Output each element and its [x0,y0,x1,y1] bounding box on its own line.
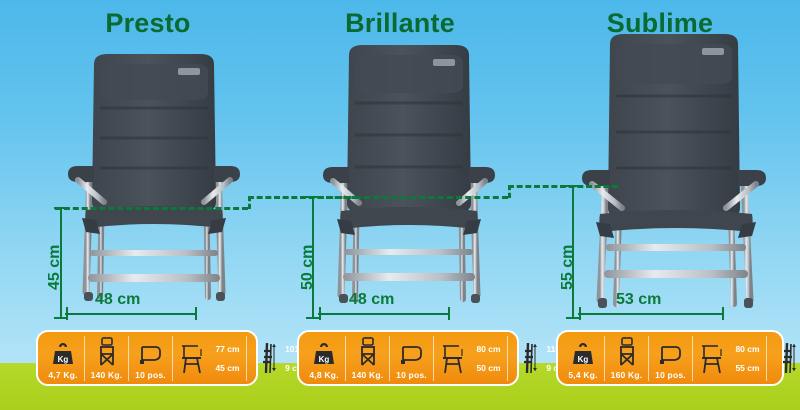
spec-side-dims-sublime: 80 cm 55 cm [692,336,766,381]
spec-max-load-sublime: 160 Kg. [604,336,648,381]
seat-height-connector-brillante-to-sublime [318,196,508,199]
chair-side-view-icon [179,342,213,376]
spec-positions-presto: 10 pos. [128,336,172,381]
chair-side-view-icon [699,342,733,376]
width-dim-cap-right-brillante [448,307,450,320]
spec-panel-brillante: Kg 4,8 Kg. 140 Kg. [297,330,519,386]
side-top-value-brillante: 80 cm [476,344,500,354]
seat-height-connector-step-upper-2 [508,185,618,188]
weight-value-sublime: 5,4 Kg. [568,370,597,380]
width-dim-cap-left-sublime [579,307,581,320]
svg-text:Kg: Kg [58,355,69,364]
recline-angle-icon [399,336,425,367]
side-top-value-sublime: 80 cm [735,344,759,354]
product-comparison-scene: Presto Brillante Sublime [0,0,800,410]
spec-max-load-presto: 140 Kg. [84,336,128,381]
width-dim-cap-right-presto [195,307,197,320]
width-dim-cap-right-sublime [722,307,724,320]
chair-load-icon [94,336,120,367]
width-label-sublime: 53 cm [616,291,661,309]
spec-max-load-brillante: 140 Kg. [345,336,389,381]
spec-weight-presto: Kg 4,7 Kg. [42,336,84,381]
weight-value-presto: 4,7 Kg. [48,370,77,380]
spec-front-dims-sublime: 115 cm 9,5 cm [766,336,800,381]
chair-folded-front-icon [257,341,283,377]
width-dim-line-brillante [318,313,450,315]
side-bottom-value-presto: 45 cm [215,363,239,373]
width-dim-cap-left-presto [66,307,68,320]
height-dim-cap-bottom-sublime [566,317,579,319]
positions-value-sublime: 10 pos. [655,370,686,380]
width-label-brillante: 48 cm [349,291,394,309]
chair-load-icon [355,336,381,367]
seat-height-connector-step-riser-1 [248,196,251,209]
positions-value-brillante: 10 pos. [396,370,427,380]
height-dim-cap-top-presto [54,207,67,209]
width-label-presto: 48 cm [95,291,140,309]
spec-weight-sublime: Kg 5,4 Kg. [562,336,604,381]
seat-height-label-presto: 45 cm [46,245,64,290]
svg-text:Kg: Kg [319,355,330,364]
recline-angle-icon [138,336,164,367]
chair-image-presto [60,52,250,317]
weight-value-brillante: 4,8 Kg. [309,370,338,380]
max-load-value-brillante: 140 Kg. [352,370,384,380]
width-dim-cap-left-brillante [319,307,321,320]
seat-height-label-brillante: 50 cm [299,245,317,290]
product-title-presto: Presto [40,8,256,39]
side-bottom-value-brillante: 50 cm [476,363,500,373]
width-dim-line-sublime [578,313,724,315]
chair-image-sublime [576,32,776,322]
max-load-value-sublime: 160 Kg. [611,370,643,380]
weight-block-icon: Kg [313,336,335,367]
chair-load-icon [614,336,640,367]
height-dim-cap-top-sublime [566,185,579,187]
seat-height-connector-step-riser-2 [508,185,511,198]
chair-image-brillante [315,43,505,318]
side-top-value-presto: 77 cm [215,344,239,354]
positions-value-presto: 10 pos. [135,370,166,380]
side-bottom-value-sublime: 55 cm [735,363,759,373]
spec-weight-brillante: Kg 4,8 Kg. [303,336,345,381]
svg-text:Kg: Kg [578,355,589,364]
recline-angle-icon [658,336,684,367]
spec-side-dims-presto: 77 cm 45 cm [172,336,246,381]
spec-panel-sublime: Kg 5,4 Kg. 160 Kg. [556,330,784,386]
spec-side-dims-brillante: 80 cm 50 cm [433,336,507,381]
weight-block-icon: Kg [572,336,594,367]
spec-panel-presto: Kg 4,7 Kg. 140 Kg. [36,330,258,386]
product-title-brillante: Brillante [292,8,508,39]
chair-folded-front-icon [518,341,544,377]
weight-block-icon: Kg [52,336,74,367]
max-load-value-presto: 140 Kg. [91,370,123,380]
chair-folded-front-icon [777,341,800,377]
seat-height-label-sublime: 55 cm [559,245,577,290]
spec-positions-brillante: 10 pos. [389,336,433,381]
spec-positions-sublime: 10 pos. [648,336,692,381]
width-dim-line-presto [65,313,197,315]
seat-height-connector-presto-to-brillante [55,207,248,210]
height-dim-cap-bottom-brillante [306,317,319,319]
height-dim-cap-top-brillante [306,196,319,198]
chair-side-view-icon [440,342,474,376]
